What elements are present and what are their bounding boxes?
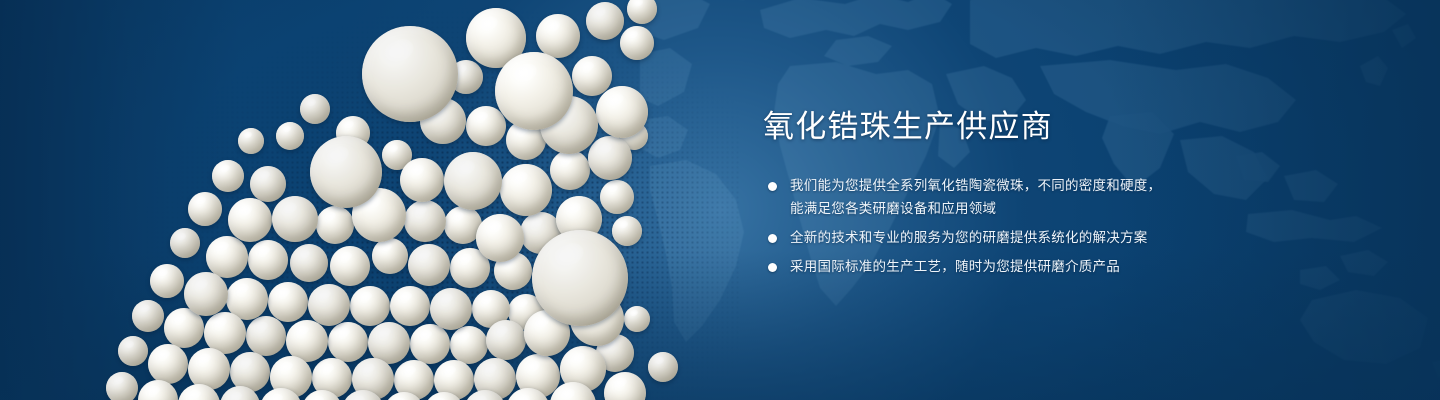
- ceramic-bead: [400, 158, 444, 202]
- ceramic-bead: [148, 344, 188, 384]
- dot-bullet-icon: [768, 182, 777, 191]
- ceramic-bead: [290, 244, 328, 282]
- ceramic-bead: [536, 14, 580, 58]
- ceramic-bead: [500, 164, 552, 216]
- ceramic-bead: [624, 306, 650, 332]
- dot-bullet-icon: [768, 263, 777, 272]
- ceramic-bead: [410, 324, 450, 364]
- ceramic-bead: [206, 236, 248, 278]
- ceramic-bead: [404, 200, 446, 242]
- ceramic-bead: [362, 26, 458, 122]
- bullet-text-line: 全新的技术和专业的服务为您的研磨提供系统化的解决方案: [790, 226, 1233, 249]
- ceramic-bead: [246, 316, 286, 356]
- ceramic-bead: [150, 264, 184, 298]
- ceramic-bead: [212, 160, 244, 192]
- ceramic-bead: [238, 128, 264, 154]
- ceramic-bead: [228, 198, 272, 242]
- ceramic-bead: [372, 238, 408, 274]
- bullet-text-line: 采用国际标准的生产工艺，随时为您提供研磨介质产品: [790, 255, 1233, 278]
- bullet-text-line: 能满足您各类研磨设备和应用领域: [790, 197, 1233, 220]
- ceramic-bead: [308, 284, 350, 326]
- ceramic-bead: [330, 246, 370, 286]
- ceramic-bead: [450, 326, 488, 364]
- ceramic-bead: [132, 300, 164, 332]
- banner-bullet-list: 我们能为您提供全系列氧化锆陶瓷微珠，不同的密度和硬度，能满足您各类研磨设备和应用…: [763, 174, 1233, 278]
- ceramic-bead: [550, 150, 590, 190]
- ceramic-bead: [486, 320, 526, 360]
- bullet-text-line: 我们能为您提供全系列氧化锆陶瓷微珠，不同的密度和硬度，: [790, 174, 1233, 197]
- ceramic-bead: [272, 196, 318, 242]
- ceramic-bead: [532, 230, 628, 326]
- ceramic-bead: [620, 26, 654, 60]
- ceramic-bead: [408, 244, 450, 286]
- ceramic-bead: [248, 240, 288, 280]
- ceramic-bead: [310, 136, 382, 208]
- ceramic-bead: [588, 136, 632, 180]
- ceramic-bead: [596, 86, 648, 138]
- banner-headline: 氧化锆珠生产供应商: [763, 108, 1233, 146]
- dot-bullet-icon: [768, 234, 777, 243]
- bullet-item: 采用国际标准的生产工艺，随时为您提供研磨介质产品: [763, 255, 1233, 278]
- bullet-item: 我们能为您提供全系列氧化锆陶瓷微珠，不同的密度和硬度，能满足您各类研磨设备和应用…: [763, 174, 1233, 220]
- ceramic-bead: [390, 286, 430, 326]
- ceramic-bead: [276, 122, 304, 150]
- ceramic-bead: [316, 206, 354, 244]
- ceramic-bead: [648, 352, 678, 382]
- hero-banner: 氧化锆珠生产供应商 我们能为您提供全系列氧化锆陶瓷微珠，不同的密度和硬度，能满足…: [0, 0, 1440, 400]
- ceramic-bead: [118, 336, 148, 366]
- ceramic-bead: [466, 106, 506, 146]
- ceramic-bead: [476, 214, 524, 262]
- ceramic-bead: [328, 322, 368, 362]
- ceramic-bead: [106, 372, 138, 400]
- ceramic-bead: [170, 228, 200, 258]
- ceramic-bead: [444, 152, 502, 210]
- ceramic-bead: [430, 288, 472, 330]
- ceramic-bead: [184, 272, 228, 316]
- banner-copy: 氧化锆珠生产供应商 我们能为您提供全系列氧化锆陶瓷微珠，不同的密度和硬度，能满足…: [763, 108, 1233, 278]
- ceramic-bead: [250, 166, 286, 202]
- ceramic-bead: [188, 192, 222, 226]
- ceramic-bead: [600, 180, 634, 214]
- ceramic-bead: [495, 52, 573, 130]
- ceramic-bead: [612, 216, 642, 246]
- ceramic-bead: [586, 2, 624, 40]
- ceramic-bead: [350, 286, 390, 326]
- ceramic-bead: [268, 282, 308, 322]
- bullet-item: 全新的技术和专业的服务为您的研磨提供系统化的解决方案: [763, 226, 1233, 249]
- ceramic-bead: [300, 94, 330, 124]
